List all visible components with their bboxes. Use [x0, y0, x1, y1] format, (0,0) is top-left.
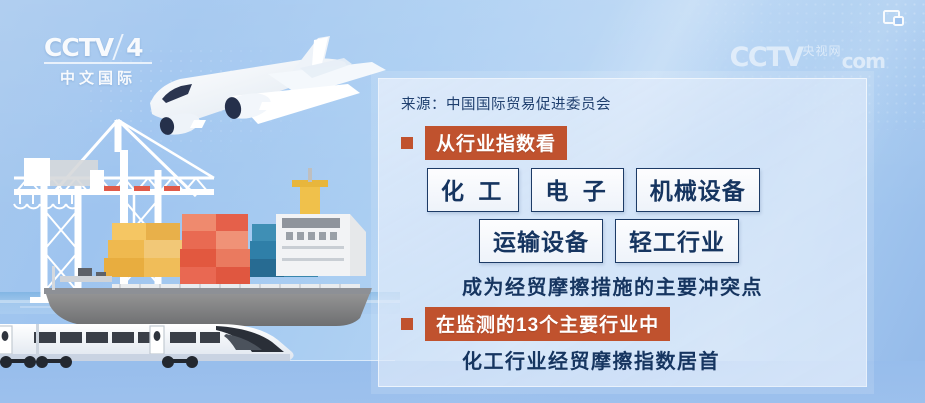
watermark-suffix-text: com [842, 51, 885, 71]
industry-tag[interactable]: 运输设备 [479, 219, 603, 263]
bullet-square-icon [401, 318, 413, 330]
watermark-cn-text: 央视网 [803, 45, 842, 57]
industry-tag[interactable]: 电 子 [531, 168, 623, 212]
ship-superstructure [276, 168, 366, 276]
containers-red [180, 214, 250, 285]
section-1-heading: 从行业指数看 [401, 126, 567, 160]
broadcast-screen: CCTV 4 中文国际 CCTV 央视网 com 来源：中国国际贸易促进委员会 … [0, 0, 925, 403]
bullet-square-icon [401, 137, 413, 149]
industry-tag[interactable]: 化 工 [427, 168, 519, 212]
section-2-heading: 在监测的13个主要行业中 [401, 307, 670, 341]
airplane-icon [150, 36, 386, 138]
logo-underline [44, 62, 152, 64]
logo-slash [112, 34, 123, 60]
high-speed-train-icon [0, 324, 294, 368]
picture-in-picture-icon[interactable] [883, 10, 905, 28]
source-label: 来源：中国国际贸易促进委员会 [401, 93, 611, 114]
channel-number: 4 [126, 35, 143, 60]
channel-name-cn: 中文国际 [44, 67, 152, 88]
containers-yellow [104, 223, 184, 277]
section-1-banner: 从行业指数看 [425, 126, 567, 160]
info-panel: 来源：中国国际贸易促进委员会 从行业指数看 化 工 电 子 机械设备 运输设备 … [378, 78, 867, 387]
industry-tag-row-2: 运输设备 轻工行业 [479, 219, 739, 263]
industry-tag[interactable]: 轻工行业 [615, 219, 739, 263]
cctv-logo-text: CCTV [44, 35, 113, 60]
cctv-com-watermark: CCTV 央视网 com [730, 44, 885, 71]
industry-tag[interactable]: 机械设备 [636, 168, 760, 212]
watermark-main-text: CCTV [730, 44, 803, 71]
section-2-conclusion: 化工行业经贸摩擦指数居首 [462, 345, 720, 374]
section-2-banner: 在监测的13个主要行业中 [425, 307, 670, 341]
industry-tag-row-1: 化 工 电 子 机械设备 [427, 168, 760, 212]
section-1-conclusion: 成为经贸摩擦措施的主要冲突点 [462, 271, 763, 300]
cctv4-channel-logo: CCTV 4 中文国际 [44, 34, 152, 88]
